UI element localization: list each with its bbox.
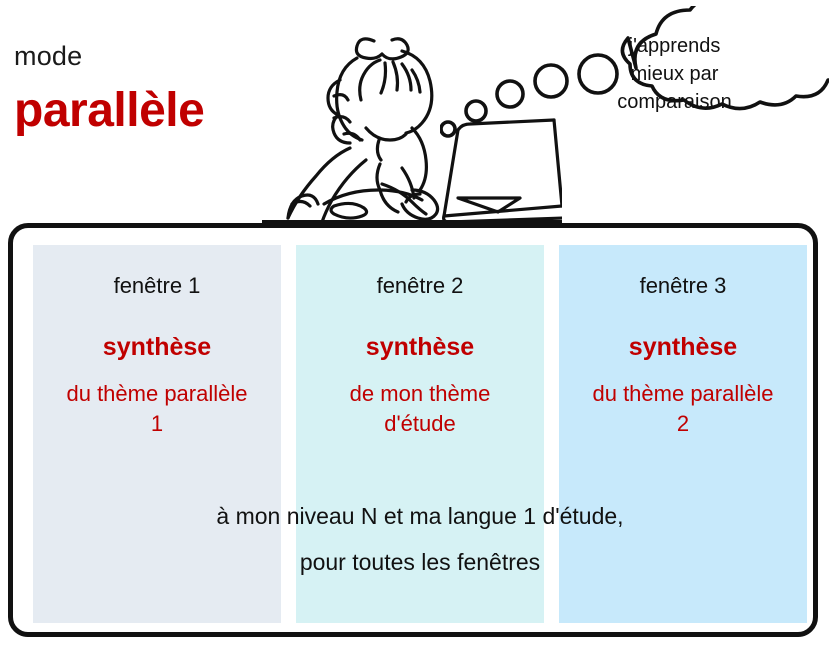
panel-3-heading: synthèse: [559, 333, 807, 362]
windows-container: fenêtre 1 synthèse du thème parallèle 1 …: [8, 223, 818, 637]
page-title: parallèle: [14, 83, 204, 138]
panel-3-title: fenêtre 3: [559, 273, 807, 299]
panels-row: fenêtre 1 synthèse du thème parallèle 1 …: [33, 245, 807, 623]
panel-3-subtitle: du thème parallèle: [559, 379, 807, 409]
panel-fenetre-1[interactable]: fenêtre 1 synthèse du thème parallèle 1: [33, 245, 281, 623]
thought-bubble-text: j'apprends mieux par comparaison: [572, 32, 777, 116]
panel-1-number: 1: [33, 409, 281, 439]
panel-1-heading: synthèse: [33, 333, 281, 362]
panel-1-title: fenêtre 1: [33, 273, 281, 299]
panel-2-title: fenêtre 2: [296, 273, 544, 299]
panel-2-heading: synthèse: [296, 333, 544, 362]
mode-label: mode: [14, 41, 82, 72]
panel-fenetre-2[interactable]: fenêtre 2 synthèse de mon thème d'étude: [296, 245, 544, 623]
header-area: mode parallèle: [0, 0, 829, 223]
panel-1-subtitle: du thème parallèle: [33, 379, 281, 409]
panel-3-number: 2: [559, 409, 807, 439]
panel-2-subtitle: de mon thème d'étude: [296, 379, 544, 439]
panel-fenetre-3[interactable]: fenêtre 3 synthèse du thème parallèle 2: [559, 245, 807, 623]
